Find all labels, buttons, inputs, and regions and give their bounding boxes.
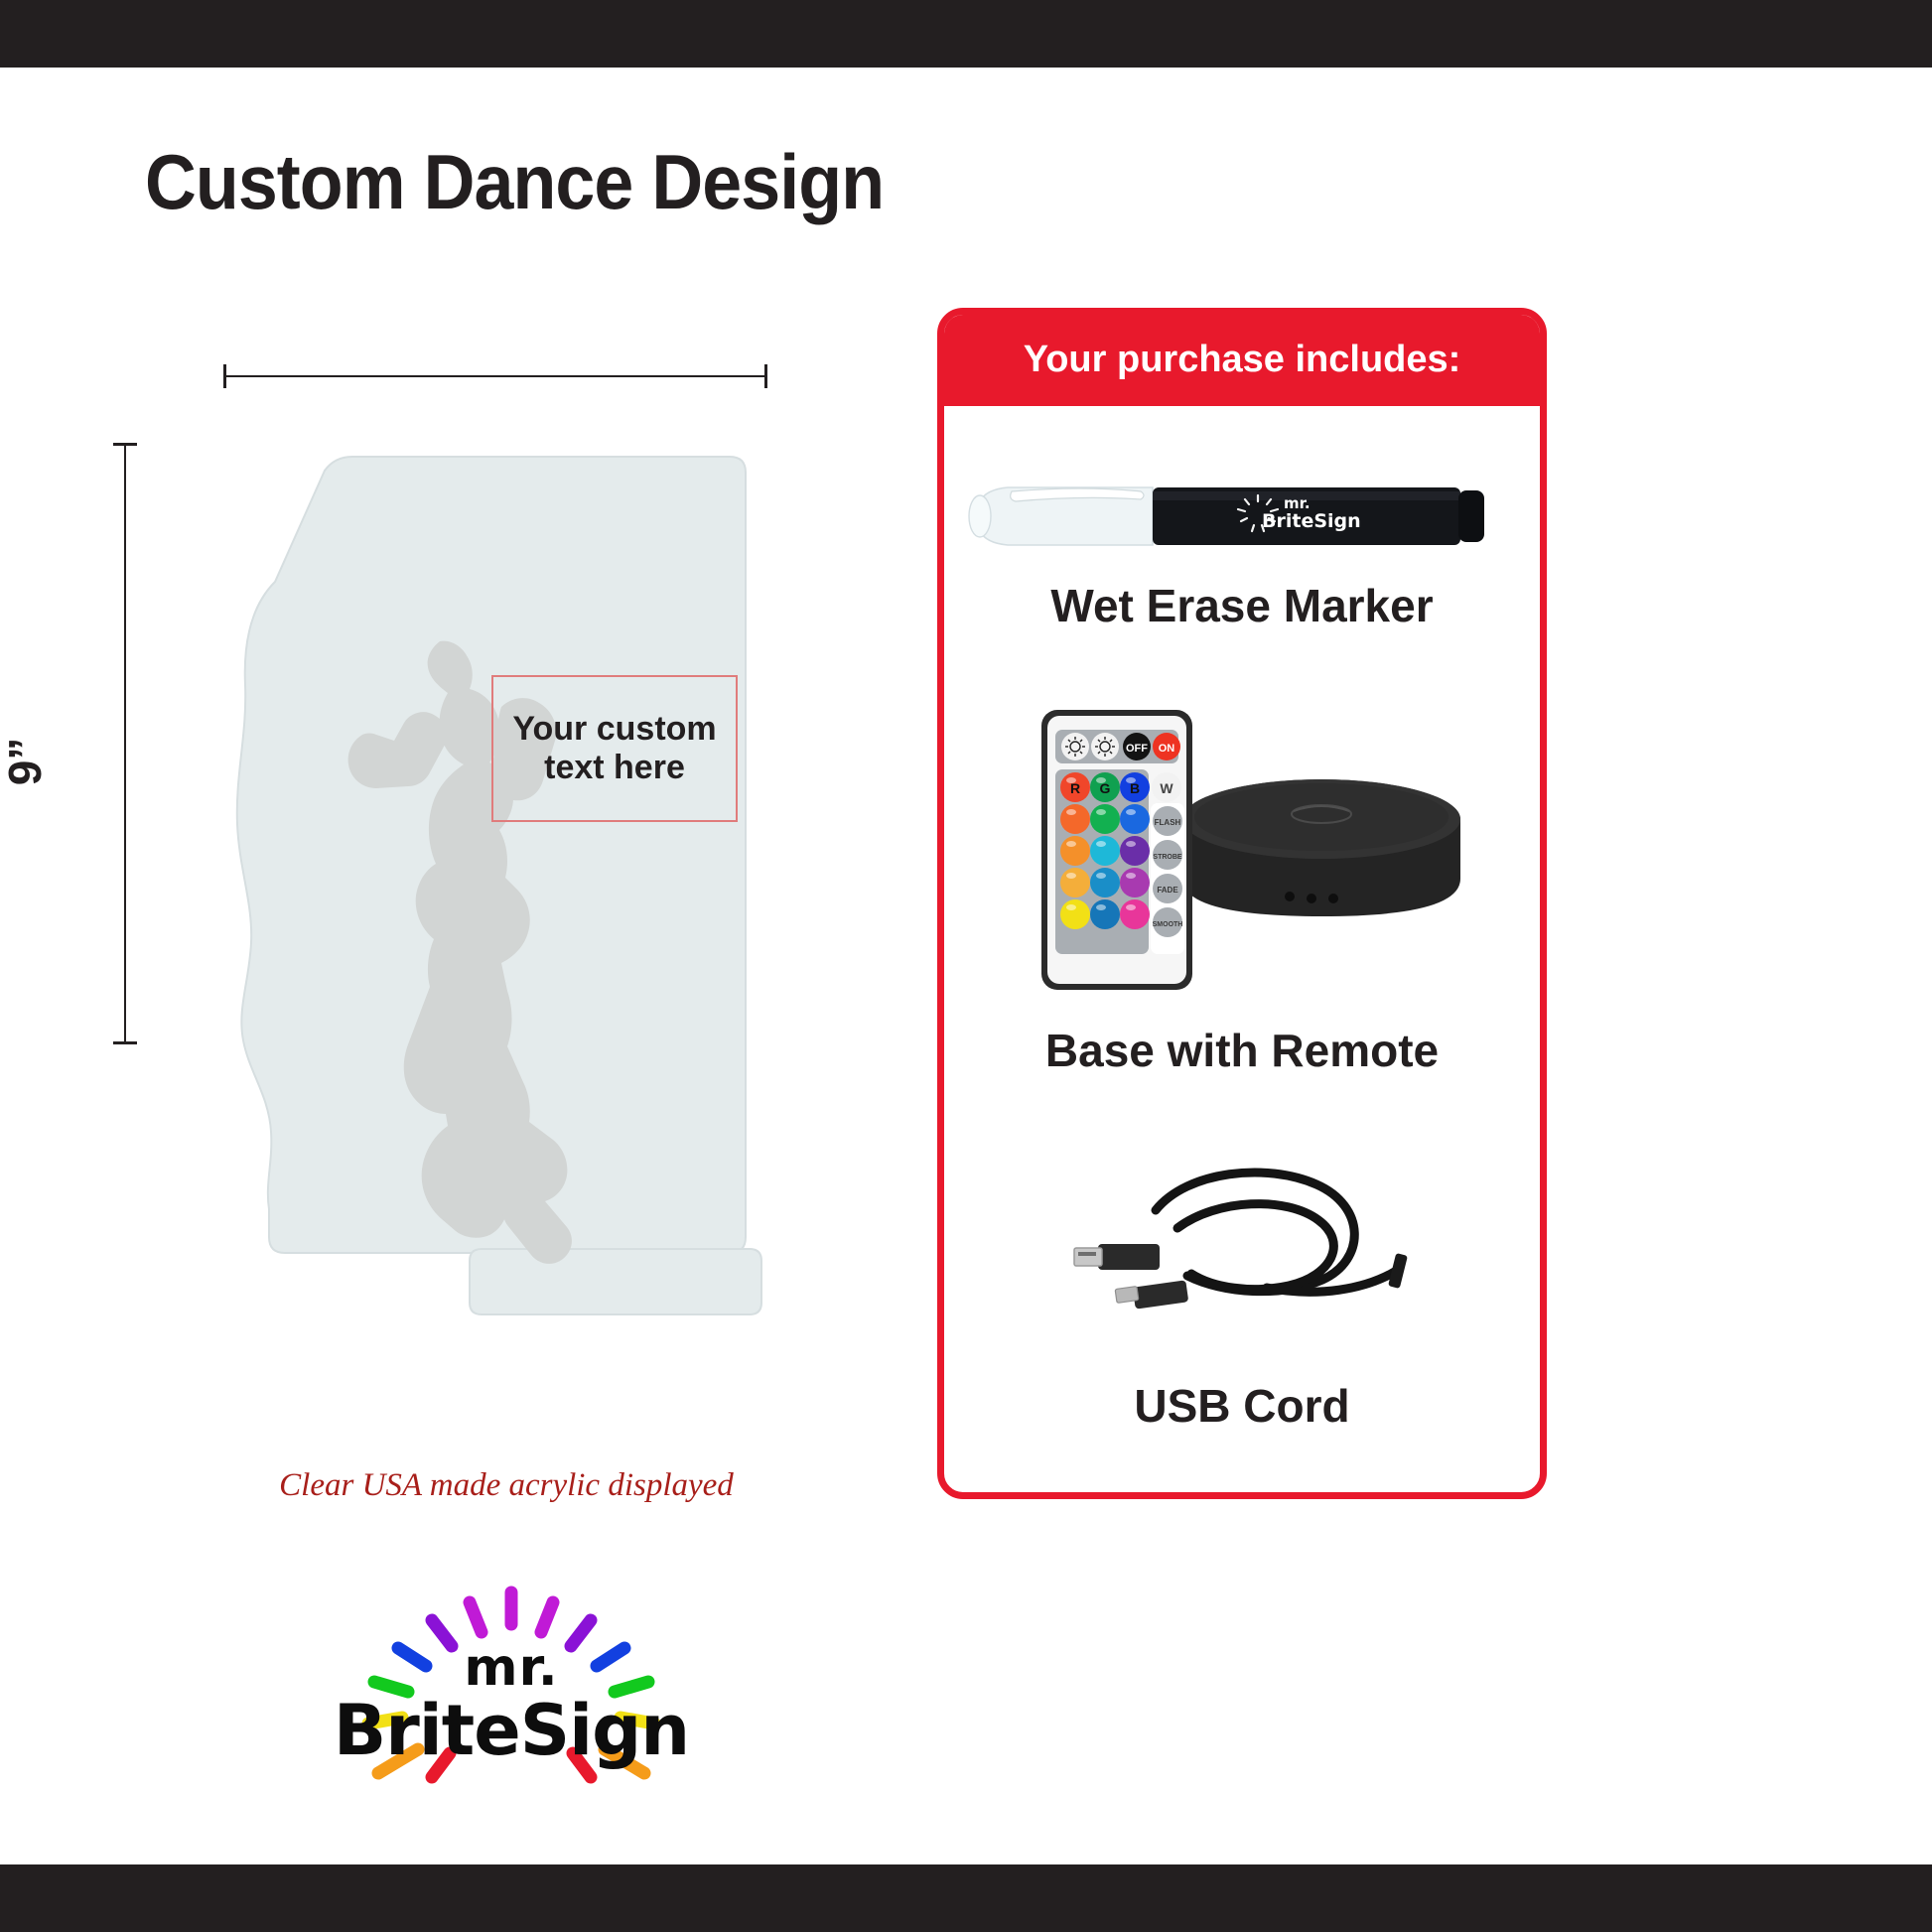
page-title: Custom Dance Design <box>145 137 884 227</box>
acrylic-footnote: Clear USA made acrylic displayed <box>119 1467 894 1504</box>
marker-brand-britesign: BriteSign <box>1262 510 1361 532</box>
svg-text:W: W <box>1160 780 1173 796</box>
logo-text-mr: mr. <box>333 1638 690 1698</box>
item-label-base: Base with Remote <box>944 1024 1540 1077</box>
usb-cord-icon <box>1038 1149 1465 1347</box>
acrylic-panel-preview: Your custom text here <box>213 437 789 1320</box>
remote-off-button: OFF <box>1126 743 1148 755</box>
remote-smooth-button: SMOOTH <box>1153 921 1183 928</box>
brand-logo: mr. BriteSign <box>333 1579 690 1837</box>
remote-fade-button: FADE <box>1157 886 1178 895</box>
height-dimension-line <box>124 443 126 1044</box>
logo-text-britesign: BriteSign <box>333 1690 690 1771</box>
height-dimension-label: 9” <box>0 513 52 1010</box>
width-dimension-line <box>223 375 767 377</box>
bottom-black-bar <box>0 1864 1932 1932</box>
item-label-marker: Wet Erase Marker <box>944 579 1540 632</box>
remote-strobe-button: STROBE <box>1153 854 1182 861</box>
custom-text-placeholder-box[interactable]: Your custom text here <box>491 675 738 822</box>
purchase-includes-header: Your purchase includes: <box>943 314 1541 406</box>
marker-icon: mr. BriteSign <box>964 462 1520 571</box>
purchase-includes-panel: Your purchase includes: mr. BriteSign We… <box>937 308 1547 1499</box>
top-black-bar <box>0 0 1932 68</box>
remote-on-button: ON <box>1159 743 1175 755</box>
item-label-usb: USB Cord <box>944 1379 1540 1433</box>
remote-control: OFF ON R G B <box>1041 710 1192 990</box>
usb-a-connector <box>1074 1244 1160 1270</box>
micro-usb-connector <box>1115 1280 1188 1309</box>
remote-flash-button: FLASH <box>1155 818 1181 827</box>
acrylic-panel-shape <box>213 437 789 1320</box>
led-base <box>1182 779 1460 916</box>
purchase-includes-title: Your purchase includes: <box>1024 339 1461 381</box>
custom-text-label: Your custom text here <box>493 710 736 787</box>
base-remote-icon: OFF ON R G B <box>1034 702 1470 1000</box>
